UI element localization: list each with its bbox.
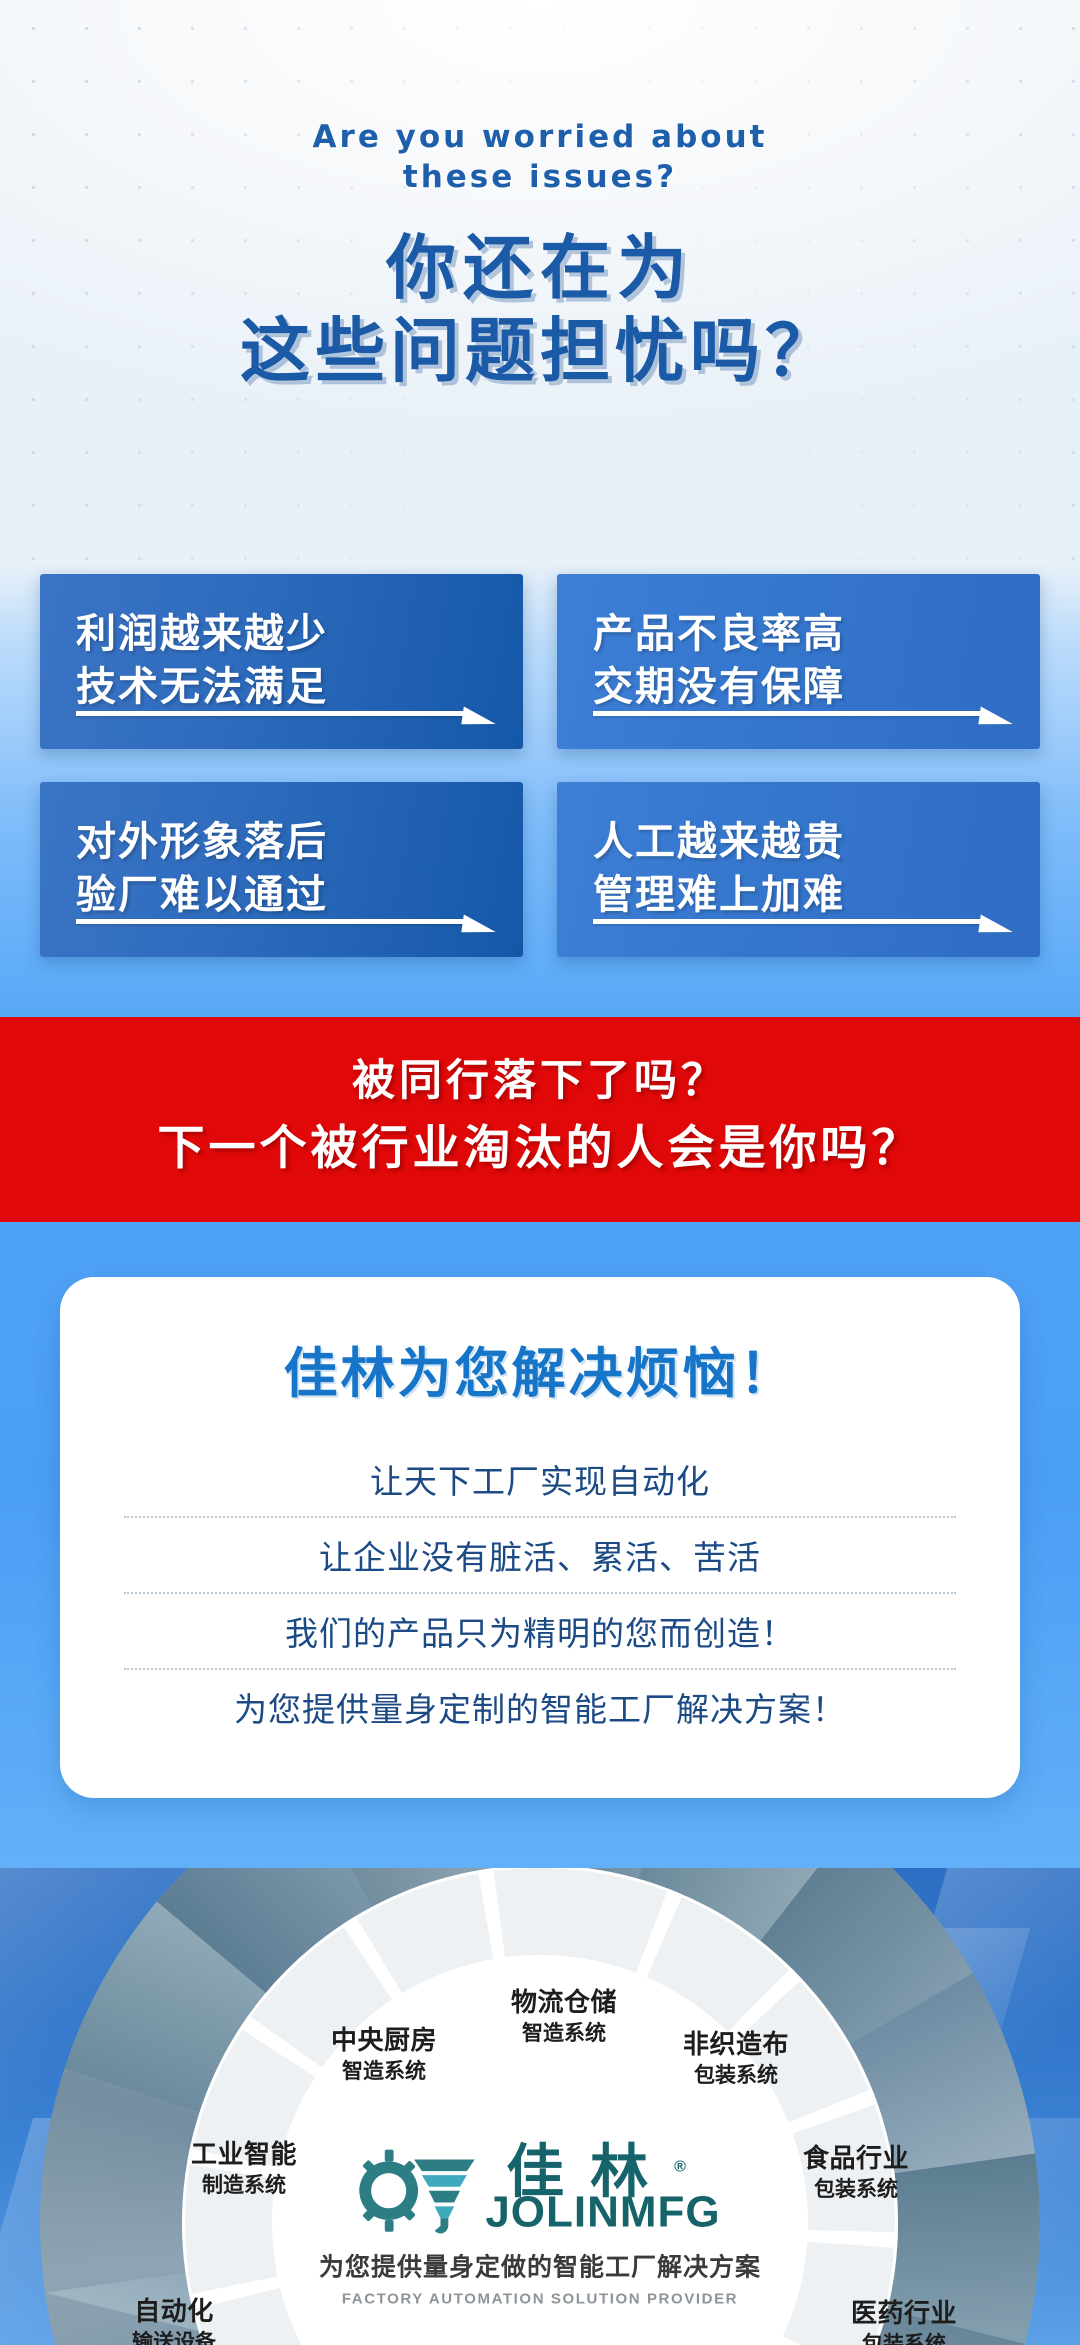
hero-english-line-2: these issues? — [0, 158, 1080, 198]
arrow-right-icon — [76, 709, 495, 719]
problem-card: 产品不良率高 交期没有保障 — [557, 574, 1040, 749]
registered-trademark-icon: ® — [674, 2158, 686, 2175]
problem-card-line-1: 利润越来越少 — [76, 608, 523, 661]
red-banner-line-2: 下一个被行业淘汰的人会是你吗？ — [0, 1117, 1080, 1182]
hero-chinese-line-2: 这些问题担忧吗？ — [0, 310, 1080, 393]
page-title: 你还在为 这些问题担忧吗？ — [0, 227, 1080, 392]
arrow-right-icon — [593, 709, 1012, 719]
wheel-segment-line-2: 包装系统 — [809, 2333, 999, 2345]
wheel-segment-line-2: 包装系统 — [641, 2064, 831, 2089]
capability-wheel-section: 自动化 包装设备 自动化 输送设备 工业智能 制造系统 中央厨房 智造系统 物流… — [0, 1868, 1080, 2345]
problem-card-line-1: 人工越来越贵 — [593, 816, 1040, 869]
brand-tagline-en: FACTORY AUTOMATION SOLUTION PROVIDER — [260, 2291, 820, 2308]
problem-card-line-2: 验厂难以通过 — [76, 869, 523, 922]
problem-card-text: 人工越来越贵 管理难上加难 — [593, 816, 1040, 922]
problem-card-line-2: 交期没有保障 — [593, 661, 1040, 714]
brand-block: 佳林® JOLINMFG 为您提供量身定做的智能工厂解决方案 FACTORY A… — [260, 2145, 820, 2308]
red-banner-section: 被同行落下了吗？ 下一个被行业淘汰的人会是你吗？ — [0, 1017, 1080, 1222]
wheel-segment-label[interactable]: 中央厨房 智造系统 — [289, 2025, 479, 2084]
hero-english-line-1: Are you worried about — [0, 118, 1080, 158]
hero-english-heading: Are you worried about these issues? — [0, 118, 1080, 197]
wheel-segment-line-2: 智造系统 — [289, 2060, 479, 2085]
arrow-right-icon — [593, 917, 1012, 927]
problem-card-line-1: 对外形象落后 — [76, 816, 523, 869]
wheel-segment-line-2: 输送设备 — [79, 2331, 269, 2345]
wheel-segment-line-1: 中央厨房 — [289, 2025, 479, 2056]
brand-name-cn-text: 佳林 — [506, 2140, 674, 2205]
hero-section: Are you worried about these issues? 你还在为… — [0, 0, 1080, 560]
wheel-segment-label[interactable]: 物流仓储 智造系统 — [469, 1987, 659, 2046]
list-item: 我们的产品只为精明的您而创造！ — [124, 1592, 956, 1668]
wheel-segment-line-1: 自动化 — [79, 2296, 269, 2327]
list-item: 让天下工厂实现自动化 — [124, 1442, 956, 1516]
brand-tagline-cn: 为您提供量身定做的智能工厂解决方案 — [260, 2248, 820, 2284]
jolin-logo-icon — [359, 2148, 477, 2234]
problem-card-text: 产品不良率高 交期没有保障 — [593, 608, 1040, 714]
wheel-segment-line-1: 非织造布 — [641, 2029, 831, 2060]
problem-card: 利润越来越少 技术无法满足 — [40, 574, 523, 749]
problem-card-line-2: 技术无法满足 — [76, 661, 523, 714]
list-item: 为您提供量身定制的智能工厂解决方案！ — [124, 1668, 956, 1744]
problem-grid: 利润越来越少 技术无法满足 产品不良率高 交期没有保障 对外形象落后 — [40, 560, 1040, 957]
wheel-segment-line-1: 物流仓储 — [469, 1987, 659, 2018]
problem-card-line-1: 产品不良率高 — [593, 608, 1040, 661]
arrow-right-icon — [76, 917, 495, 927]
hero-chinese-line-1: 你还在为 — [0, 227, 1080, 310]
solution-point-list: 让天下工厂实现自动化 让企业没有脏活、累活、苦活 我们的产品只为精明的您而创造！… — [124, 1442, 956, 1744]
solution-card: 佳林为您解决烦恼！ 让天下工厂实现自动化 让企业没有脏活、累活、苦活 我们的产品… — [60, 1277, 1020, 1798]
solution-card-title: 佳林为您解决烦恼！ — [124, 1329, 956, 1408]
capability-wheel: 自动化 包装设备 自动化 输送设备 工业智能 制造系统 中央厨房 智造系统 物流… — [40, 1868, 1040, 2345]
wheel-segment-label[interactable]: 非织造布 包装系统 — [641, 2029, 831, 2088]
problem-card-text: 对外形象落后 验厂难以通过 — [76, 816, 523, 922]
wheel-segment-label[interactable]: 医药行业 包装系统 — [809, 2298, 999, 2345]
list-item: 让企业没有脏活、累活、苦活 — [124, 1516, 956, 1592]
problem-grid-section: 利润越来越少 技术无法满足 产品不良率高 交期没有保障 对外形象落后 — [0, 560, 1080, 1017]
wheel-segment-line-1: 医药行业 — [809, 2298, 999, 2329]
problem-card: 对外形象落后 验厂难以通过 — [40, 782, 523, 957]
red-banner-line-1: 被同行落下了吗？ — [0, 1053, 1080, 1111]
problem-card-line-2: 管理难上加难 — [593, 869, 1040, 922]
wheel-segment-line-2: 智造系统 — [469, 2022, 659, 2047]
problem-card-text: 利润越来越少 技术无法满足 — [76, 608, 523, 714]
problem-card: 人工越来越贵 管理难上加难 — [557, 782, 1040, 957]
promo-page: Are you worried about these issues? 你还在为… — [0, 0, 1080, 2345]
brand-name-cn: 佳林® — [485, 2145, 720, 2200]
solution-section: 佳林为您解决烦恼！ 让天下工厂实现自动化 让企业没有脏活、累活、苦活 我们的产品… — [0, 1222, 1080, 1868]
wheel-segment-label[interactable]: 自动化 输送设备 — [79, 2296, 269, 2345]
